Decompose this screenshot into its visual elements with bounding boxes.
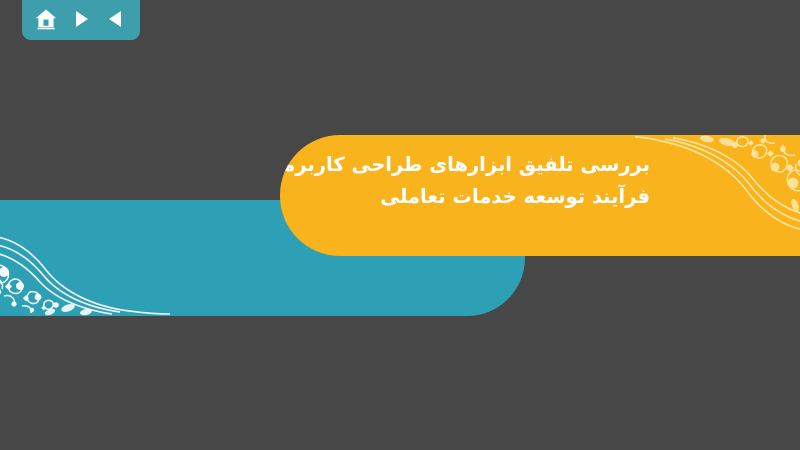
triangle-right-icon: [70, 8, 92, 30]
slide-title: بررسی تلفیق ابزارهای طراحی کاربرمحور در …: [320, 149, 650, 212]
navigation-bar: [22, 0, 140, 40]
arabesque-corner-ornament-orange: [635, 135, 800, 256]
next-slide-button[interactable]: [66, 4, 96, 34]
home-button[interactable]: [31, 4, 61, 34]
presentation-slide: بررسی تلفیق ابزارهای طراحی کاربرمحور در …: [0, 0, 800, 450]
title-line-1: بررسی تلفیق ابزارهای طراحی کاربرمحور در: [320, 149, 650, 181]
triangle-left-icon: [105, 8, 127, 30]
arabesque-corner-ornament-teal: [0, 200, 170, 316]
previous-slide-button[interactable]: [101, 4, 131, 34]
orange-title-banner: بررسی تلفیق ابزارهای طراحی کاربرمحور در …: [280, 135, 800, 256]
home-icon: [34, 7, 58, 31]
title-line-2: فرآیند توسعه خدمات تعاملی: [320, 181, 650, 213]
